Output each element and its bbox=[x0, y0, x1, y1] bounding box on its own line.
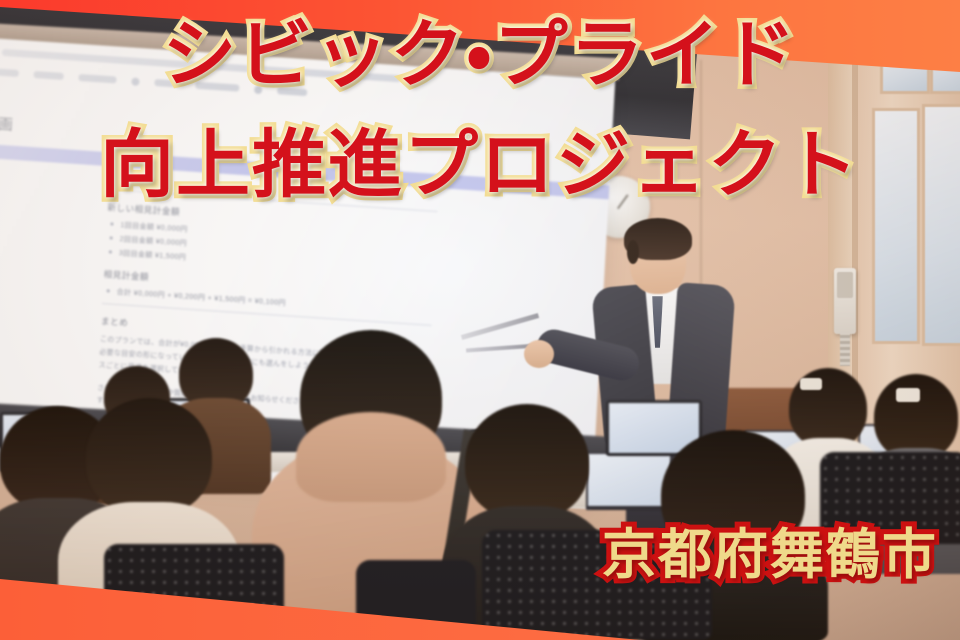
audience-head bbox=[86, 398, 212, 516]
poster-canvas: の計画 新しい相見計金額 1回目金額 ¥0,000円 2回目金額 ¥0,000円… bbox=[0, 0, 960, 640]
presenter-hand bbox=[524, 340, 554, 368]
hair-clip-icon bbox=[896, 388, 920, 402]
phone-cord bbox=[840, 332, 850, 366]
location-label: 京都府舞鶴市 bbox=[602, 528, 938, 582]
headline-line-2: 向上推進プロジェクト bbox=[0, 128, 960, 202]
wall-phone-icon bbox=[834, 268, 856, 334]
presenter-hair bbox=[624, 218, 692, 260]
headline-line-1: シビック・プライド bbox=[0, 18, 960, 92]
audience-head bbox=[465, 404, 589, 520]
hoodie-hood bbox=[296, 412, 446, 502]
hair-clip-icon bbox=[800, 378, 822, 390]
